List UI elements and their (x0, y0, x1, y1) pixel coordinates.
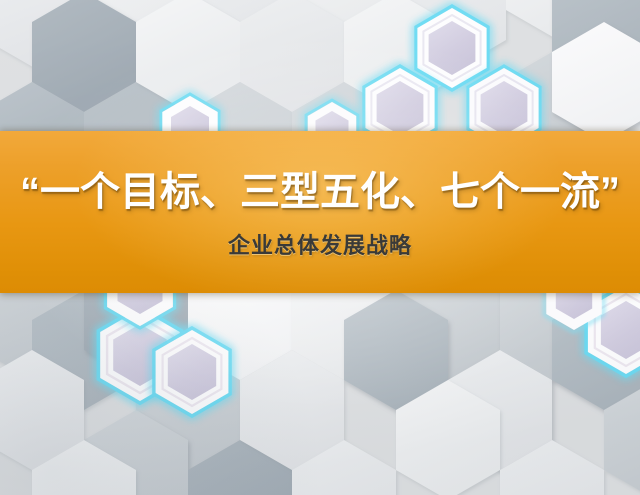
presentation-slide: “一个目标、三型五化、七个一流” 企业总体发展战略 (0, 0, 640, 495)
page-title: “一个目标、三型五化、七个一流” (20, 171, 620, 213)
page-subtitle: 企业总体发展战略 (228, 228, 412, 260)
title-banner: “一个目标、三型五化、七个一流” 企业总体发展战略 (0, 131, 640, 293)
